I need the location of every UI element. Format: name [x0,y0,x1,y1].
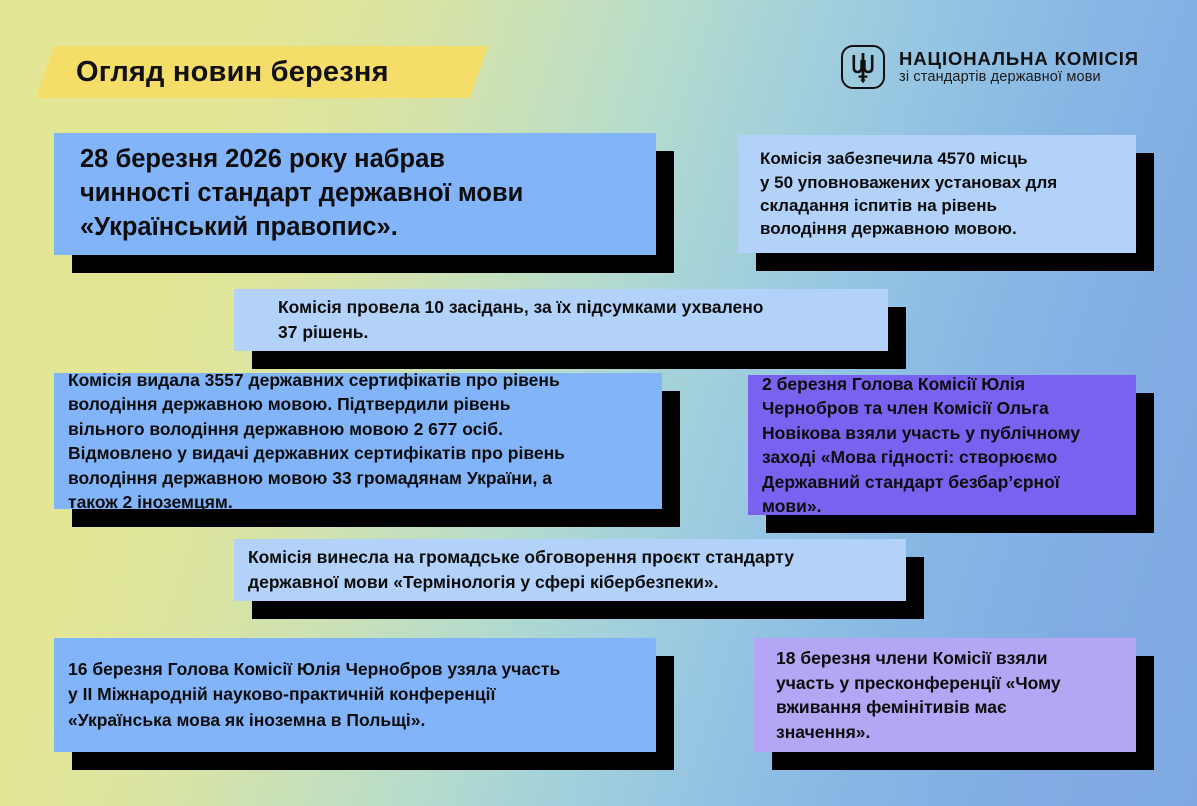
news-card-poland-conference: 16 березня Голова Комісії Юлія Чернобров… [54,638,656,752]
logo-text: НАЦІОНАЛЬНА КОМІСІЯ зі стандартів держав… [899,48,1139,87]
card-text: Комісія винесла на громадське обговоренн… [248,545,892,595]
card-face: Комісія забезпечила 4570 місць у 50 упов… [738,135,1136,253]
news-card-pravopys: 28 березня 2026 року набрав чинності ста… [54,133,656,255]
title-banner: Огляд новин березня [36,46,488,98]
card-text: Комісія забезпечила 4570 місць у 50 упов… [760,147,1114,241]
news-card-certificates: Комісія видала 3557 державних сертифікат… [54,373,662,509]
card-face: 16 березня Голова Комісії Юлія Чернобров… [54,638,656,752]
logo-subtitle: зі стандартів державної мови [899,69,1139,86]
page-title: Огляд новин березня [36,56,389,89]
organization-logo: НАЦІОНАЛЬНА КОМІСІЯ зі стандартів держав… [840,44,1139,90]
infographic-poster: Огляд новин березня НАЦІОНАЛЬНА КОМІСІЯ … [0,0,1197,806]
card-text: Комісія видала 3557 державних сертифікат… [68,368,648,515]
card-face: 2 березня Голова Комісії Юлія Чернобров … [748,375,1136,515]
card-text: 28 березня 2026 року набрав чинності ста… [80,143,630,245]
card-face: Комісія провела 10 засідань, за їх підсу… [234,289,888,351]
card-text: 16 березня Голова Комісії Юлія Чернобров… [68,657,642,733]
news-card-feminitives-press-conference: 18 березня члени Комісії взяли участь у … [754,638,1136,752]
tryzub-emblem-icon [840,44,886,90]
card-face: Комісія видала 3557 державних сертифікат… [54,373,662,509]
news-card-dignity-event: 2 березня Голова Комісії Юлія Чернобров … [748,375,1136,515]
news-card-exam-places: Комісія забезпечила 4570 місць у 50 упов… [738,135,1136,253]
card-face: 28 березня 2026 року набрав чинності ста… [54,133,656,255]
card-text: 18 березня члени Комісії взяли участь у … [776,646,1114,744]
logo-title: НАЦІОНАЛЬНА КОМІСІЯ [899,48,1139,70]
card-text: Комісія провела 10 засідань, за їх підсу… [278,295,844,345]
card-face: Комісія винесла на громадське обговоренн… [234,539,906,601]
card-face: 18 березня члени Комісії взяли участь у … [754,638,1136,752]
card-text: 2 березня Голова Комісії Юлія Чернобров … [762,372,1122,519]
news-card-sessions: Комісія провела 10 засідань, за їх підсу… [234,289,888,351]
news-card-cybersecurity-terminology: Комісія винесла на громадське обговоренн… [234,539,906,601]
